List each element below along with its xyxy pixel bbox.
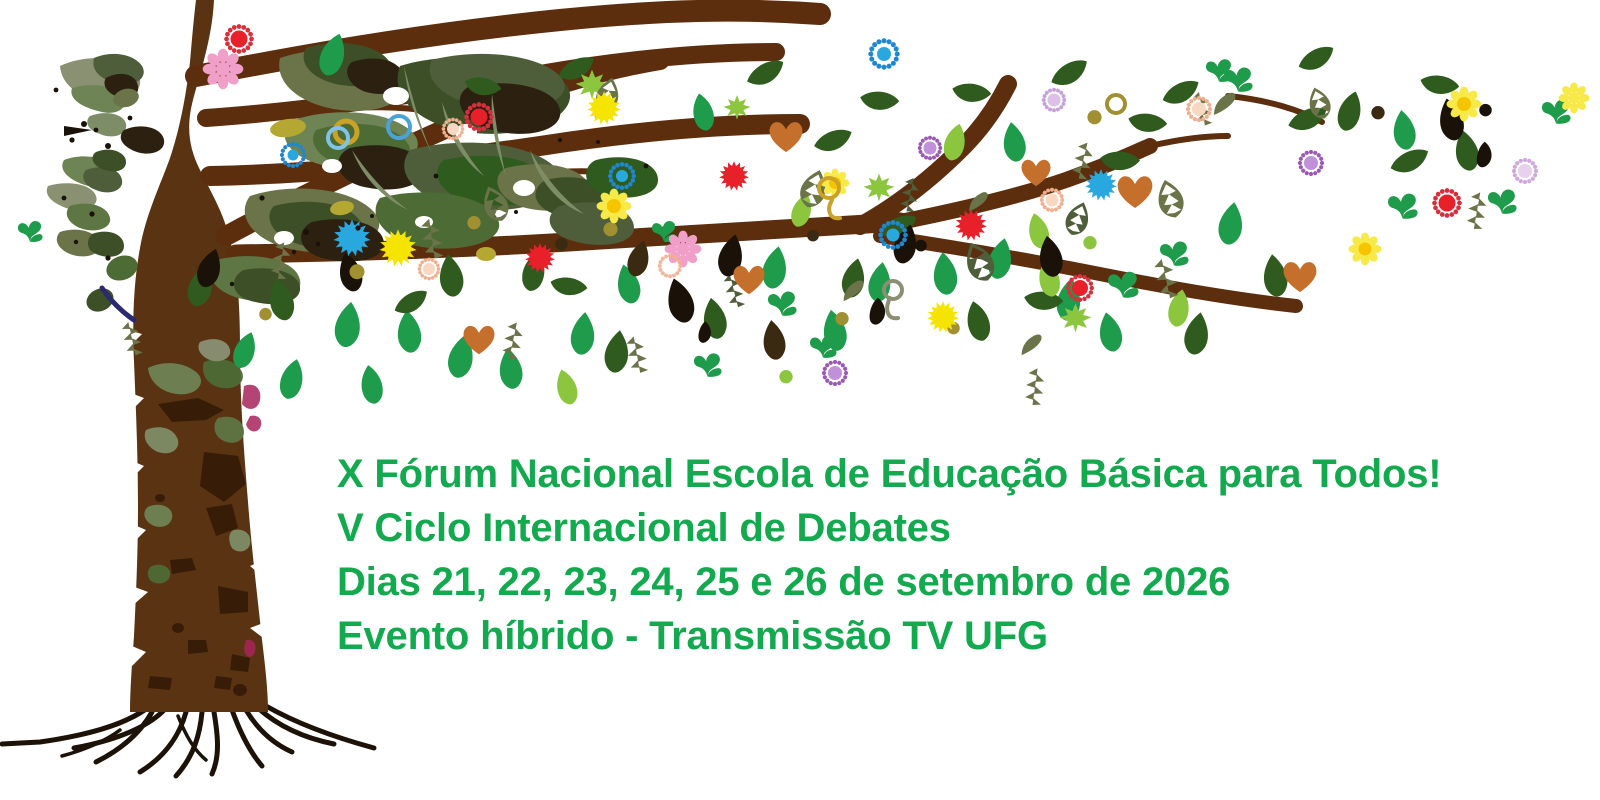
event-title-line-2: V Ciclo Internacional de Debates [337, 501, 1537, 555]
event-dates-line: Dias 21, 22, 23, 24, 25 e 26 de setembro… [337, 555, 1537, 609]
event-title-line-1: X Fórum Nacional Escola de Educação Bási… [337, 447, 1537, 501]
poster-canvas: X Fórum Nacional Escola de Educação Bási… [0, 0, 1600, 800]
event-title-block: X Fórum Nacional Escola de Educação Bási… [337, 447, 1537, 663]
tree-roots [2, 706, 374, 776]
event-format-line: Evento híbrido - Transmissão TV UFG [337, 609, 1537, 663]
tree-illustration [0, 0, 1600, 800]
